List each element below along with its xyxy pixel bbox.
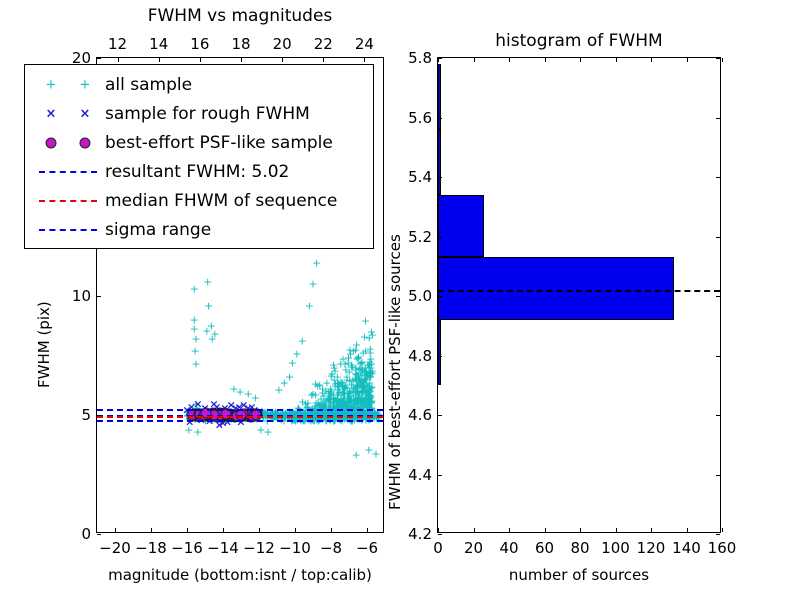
all-sample-point: + xyxy=(367,359,376,370)
histogram-bar xyxy=(438,257,674,319)
x-tick-label-top: 12 xyxy=(108,35,127,53)
x-tick-top xyxy=(241,58,242,62)
hist-y-tick xyxy=(438,356,442,357)
hist-y-tick xyxy=(438,58,442,59)
hist-x-tick-top xyxy=(687,58,688,62)
hist-x-tick-label: 40 xyxy=(499,539,518,557)
all-sample-point: + xyxy=(191,333,200,344)
hist-y-tick xyxy=(438,296,442,297)
right-plot-title: histogram of FWHM xyxy=(438,31,720,51)
hist-x-tick-top xyxy=(722,58,723,62)
x-tick-label-bottom: −20 xyxy=(99,539,131,557)
all-sample-point: + xyxy=(368,329,377,340)
x-tick-label-bottom: −6 xyxy=(356,539,378,557)
hist-y-tick xyxy=(438,534,442,535)
hist-x-tick-label: 120 xyxy=(637,539,666,557)
x-tick-label-top: 16 xyxy=(190,35,209,53)
x-tick-bottom xyxy=(367,528,368,532)
x-tick-bottom xyxy=(151,528,152,532)
histogram-data-area xyxy=(438,58,720,532)
hist-y-tick xyxy=(438,118,442,119)
x-tick-top xyxy=(159,58,160,62)
legend-label: resultant FWHM: 5.02 xyxy=(105,162,289,182)
hist-y-tick-right xyxy=(716,415,720,416)
hist-x-tick xyxy=(509,528,510,532)
hist-x-tick-label: 60 xyxy=(535,539,554,557)
all-sample-point: + xyxy=(285,371,294,382)
hist-y-tick-right xyxy=(716,118,720,119)
x-tick-bottom xyxy=(223,528,224,532)
hist-y-tick xyxy=(438,237,442,238)
all-sample-point: + xyxy=(346,349,355,360)
hist-x-tick xyxy=(651,528,652,532)
legend-marker-dashed-line xyxy=(31,189,105,213)
hist-x-tick xyxy=(438,528,439,532)
hist-x-tick-label: 20 xyxy=(464,539,483,557)
all-sample-point: + xyxy=(190,283,199,294)
hist-y-tick-right xyxy=(716,237,720,238)
legend-marker-dot xyxy=(31,131,105,155)
hist-x-tick-top xyxy=(580,58,581,62)
cross-icon: × xyxy=(80,108,91,121)
all-sample-point: + xyxy=(330,375,339,386)
all-sample-point: + xyxy=(298,336,307,347)
hist-x-tick-top xyxy=(651,58,652,62)
x-tick-label-bottom: −18 xyxy=(135,539,167,557)
hist-x-tick xyxy=(545,528,546,532)
all-sample-point: + xyxy=(311,378,320,389)
dashdot-line-icon xyxy=(39,229,97,231)
all-sample-point: + xyxy=(361,345,370,356)
hist-y-tick xyxy=(438,177,442,178)
y-tick xyxy=(97,58,101,59)
right-x-axis-label: number of sources xyxy=(509,566,649,584)
legend-entry: ××sample for rough FWHM xyxy=(25,99,373,129)
legend-marker-cross: ×× xyxy=(31,102,105,126)
histogram-bar xyxy=(438,129,441,194)
x-tick-label-bottom: −10 xyxy=(279,539,311,557)
legend-entry: ++all sample xyxy=(25,70,373,100)
all-sample-point: + xyxy=(191,358,200,369)
all-sample-point: + xyxy=(312,257,321,268)
x-tick-label-top: 22 xyxy=(314,35,333,53)
histogram-bar xyxy=(438,320,441,385)
x-tick-bottom xyxy=(331,528,332,532)
dashed-line-icon xyxy=(39,171,97,173)
hist-y-tick-label: 5.6 xyxy=(388,109,432,127)
hist-x-tick-label: 100 xyxy=(601,539,630,557)
x-tick-label-bottom: −12 xyxy=(243,539,275,557)
x-tick-label-bottom: −16 xyxy=(171,539,203,557)
all-sample-point: + xyxy=(361,316,370,327)
x-tick-top xyxy=(118,58,119,62)
hist-x-tick xyxy=(580,528,581,532)
legend-marker-dashdot-line xyxy=(31,218,105,242)
legend-label: all sample xyxy=(105,75,192,95)
histogram-bar xyxy=(438,195,484,257)
y-tick-label: 10 xyxy=(55,287,91,305)
hist-x-tick-label: 140 xyxy=(672,539,701,557)
all-sample-point: + xyxy=(352,450,361,461)
legend-marker-plus: ++ xyxy=(31,73,105,97)
hist-y-tick-right xyxy=(716,356,720,357)
y-tick-label: 0 xyxy=(55,525,91,543)
hist-y-tick-label: 5.8 xyxy=(388,49,432,67)
hist-x-tick-label: 160 xyxy=(708,539,737,557)
legend-entry: median FHWM of sequence xyxy=(25,186,373,216)
fwhm-histogram-plot: histogram of FWHM 0204060801001201401604… xyxy=(437,57,721,533)
legend-label: median FHWM of sequence xyxy=(105,191,337,211)
all-sample-point: + xyxy=(305,300,314,311)
x-tick-label-top: 20 xyxy=(273,35,292,53)
all-sample-point: + xyxy=(263,426,272,437)
hist-y-tick-label: 5.4 xyxy=(388,168,432,186)
plus-icon: + xyxy=(80,79,91,92)
legend-box: ++all sample××sample for rough FWHMbest-… xyxy=(24,64,374,249)
hist-x-tick-top xyxy=(474,58,475,62)
x-tick-top xyxy=(282,58,283,62)
hist-x-tick xyxy=(616,528,617,532)
cross-icon: × xyxy=(46,108,57,121)
legend-marker-dashed-line xyxy=(31,160,105,184)
legend-label: best-effort PSF-like sample xyxy=(105,133,333,153)
hist-y-tick-right xyxy=(716,534,720,535)
x-tick-label-bottom: −8 xyxy=(320,539,342,557)
legend-entry: sigma range xyxy=(25,215,373,245)
hist-x-tick-label: 80 xyxy=(570,539,589,557)
sigma-range-lower-line xyxy=(97,420,383,422)
hist-y-tick-label: 4.2 xyxy=(388,525,432,543)
all-sample-point: + xyxy=(190,345,199,356)
left-y-axis-label: FWHM (pix) xyxy=(35,301,53,388)
dot-icon xyxy=(46,138,57,149)
hist-y-tick xyxy=(438,415,442,416)
x-tick-bottom xyxy=(295,528,296,532)
all-sample-point: + xyxy=(204,300,213,311)
all-sample-point: + xyxy=(193,426,202,437)
x-tick-label-top: 18 xyxy=(231,35,250,53)
histogram-reference-line xyxy=(438,290,720,292)
hist-y-tick-right xyxy=(716,475,720,476)
sigma-range-upper-line xyxy=(97,409,383,411)
hist-y-tick-right xyxy=(716,296,720,297)
hist-x-tick-label: 0 xyxy=(433,539,443,557)
all-sample-point: + xyxy=(371,449,380,460)
y-tick xyxy=(97,415,101,416)
legend-entry: best-effort PSF-like sample xyxy=(25,128,373,158)
hist-y-tick xyxy=(438,475,442,476)
right-y-axis-label: FWHM of best-effort PSF-like sources xyxy=(386,234,404,510)
histogram-bar xyxy=(438,64,441,129)
left-plot-title: FWHM vs magnitudes xyxy=(97,6,383,26)
hist-y-tick-right xyxy=(716,58,720,59)
plus-icon: + xyxy=(46,79,57,92)
x-tick-top xyxy=(200,58,201,62)
median-fwhm-line xyxy=(97,416,383,418)
x-tick-top xyxy=(323,58,324,62)
x-tick-label-top: 24 xyxy=(355,35,374,53)
left-x-axis-label: magnitude (bottom:isnt / top:calib) xyxy=(108,566,372,584)
x-tick-bottom xyxy=(115,528,116,532)
y-tick-label: 5 xyxy=(55,406,91,424)
legend-label: sample for rough FWHM xyxy=(105,104,310,124)
x-tick-bottom xyxy=(259,528,260,532)
x-tick-label-top: 14 xyxy=(149,35,168,53)
dashed-line-icon xyxy=(39,200,97,202)
figure-canvas: FWHM vs magnitudes +++++++++++++++++++++… xyxy=(0,0,800,600)
x-tick-bottom xyxy=(187,528,188,532)
hist-x-tick-top xyxy=(616,58,617,62)
all-sample-point: + xyxy=(354,388,363,399)
hist-x-tick-top xyxy=(545,58,546,62)
x-tick-top xyxy=(364,58,365,62)
legend-entry: resultant FWHM: 5.02 xyxy=(25,157,373,187)
hist-x-tick-top xyxy=(509,58,510,62)
x-tick-label-bottom: −14 xyxy=(207,539,239,557)
all-sample-point: + xyxy=(292,349,301,360)
y-tick xyxy=(97,534,101,535)
hist-x-tick xyxy=(722,528,723,532)
legend-label: sigma range xyxy=(105,220,211,240)
y-tick xyxy=(97,296,101,297)
all-sample-point: + xyxy=(203,276,212,287)
hist-x-tick xyxy=(474,528,475,532)
hist-x-tick xyxy=(687,528,688,532)
all-sample-point: + xyxy=(308,279,317,290)
all-sample-point: + xyxy=(344,395,353,406)
hist-y-tick-right xyxy=(716,177,720,178)
dot-icon xyxy=(80,138,91,149)
all-sample-point: + xyxy=(210,329,219,340)
